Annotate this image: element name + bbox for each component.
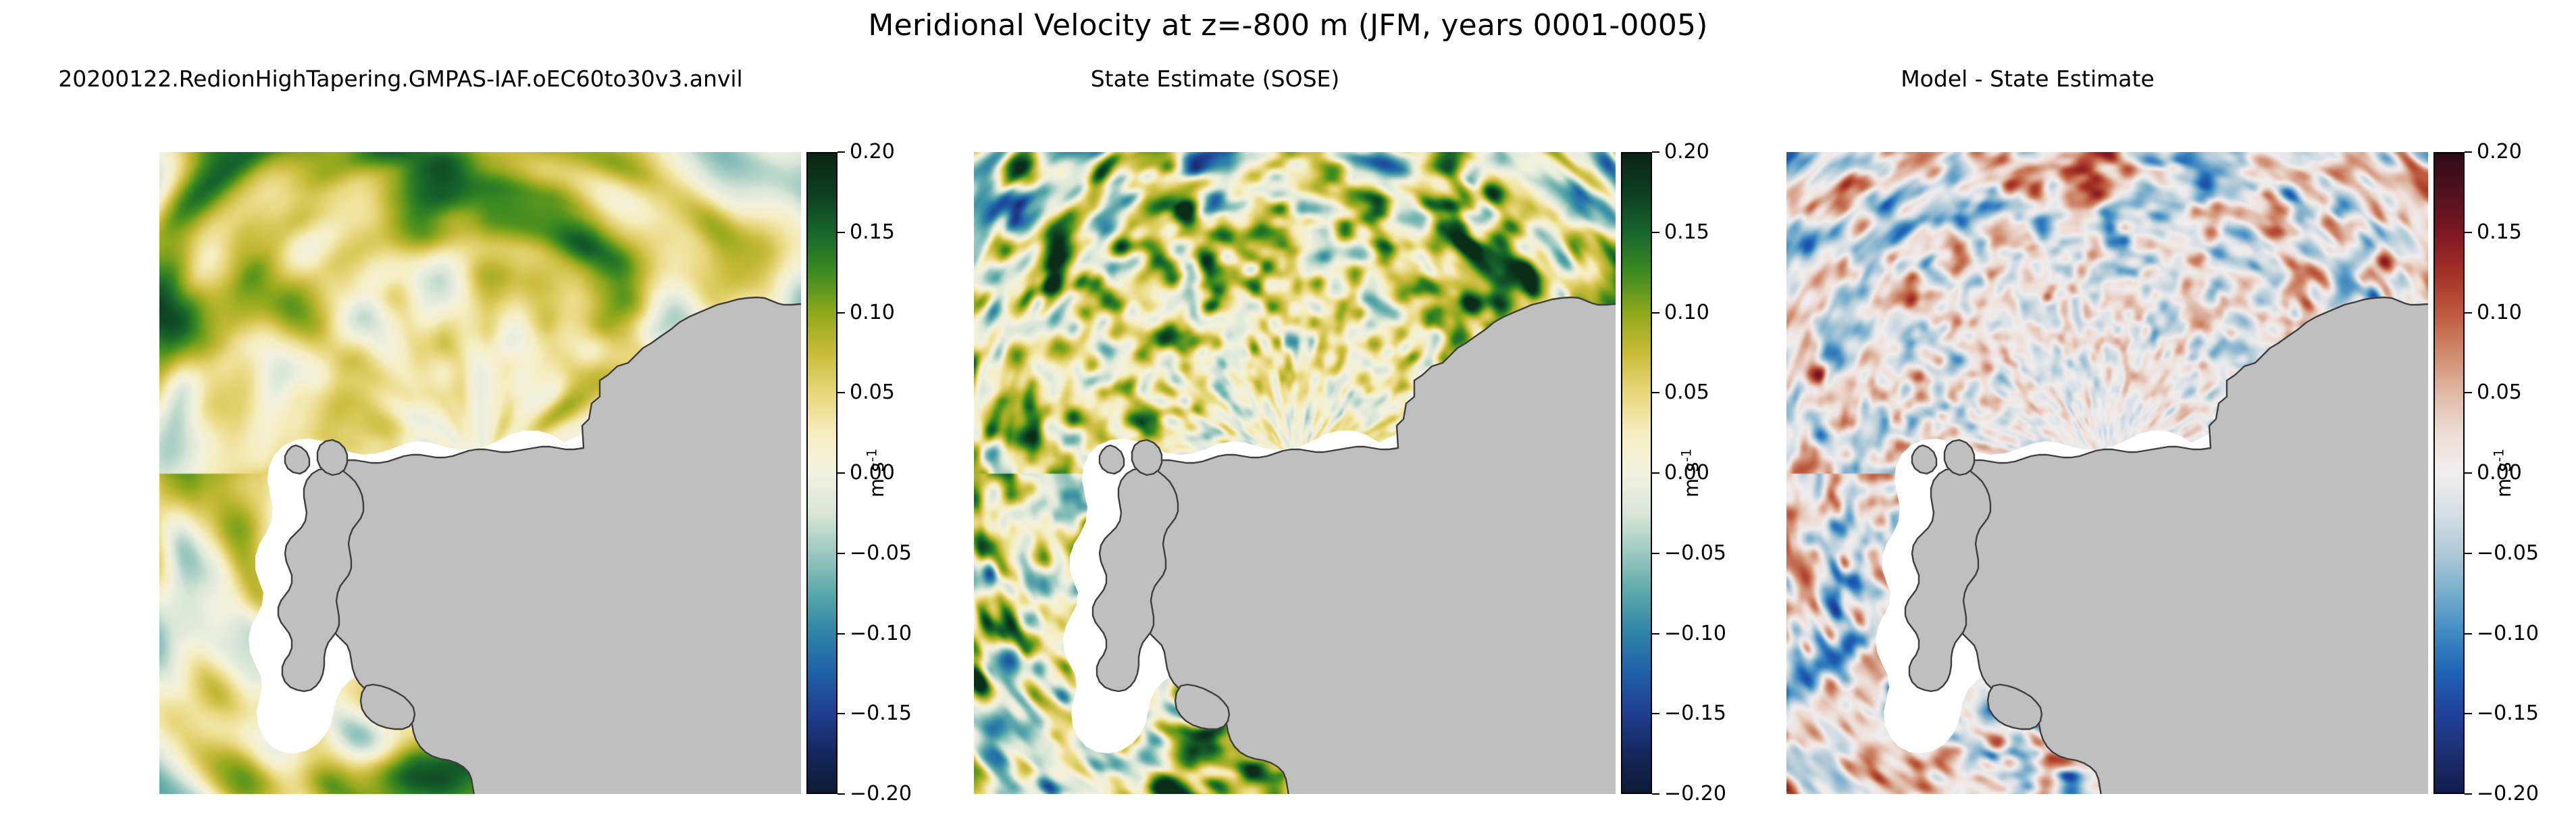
- panel-title-sose: State Estimate (SOSE): [815, 68, 1616, 90]
- colorbar-tick-mark: [2465, 633, 2472, 635]
- panel-difference: Model - State Estimate 0.200.150.100.050…: [1627, 68, 2576, 743]
- panel-title-difference: Model - State Estimate: [1627, 68, 2428, 90]
- colorbar-axis-label-difference: m s-1: [2492, 449, 2515, 497]
- island-west-b: [317, 440, 347, 475]
- colorbar-tick-mark: [2465, 713, 2472, 714]
- island-west-b: [1944, 440, 1974, 475]
- colorbar-tick-mark: [2465, 472, 2472, 474]
- antarctica-landmass-sose: [974, 152, 1616, 794]
- colorbar-tick-label: −0.20: [1664, 780, 1726, 808]
- colorbar-tick-mark: [2465, 151, 2472, 153]
- colorbar-tick-mark: [2465, 392, 2472, 393]
- colorbar-tick-label: 0.10: [2477, 299, 2522, 326]
- colorbar-tick-label: −0.05: [2477, 540, 2539, 567]
- map-axes-difference: [1786, 152, 2428, 794]
- land-group: [249, 297, 801, 794]
- map-axes-sose: [974, 152, 1616, 794]
- island-west-b: [1132, 440, 1162, 475]
- antarctica-landmass-difference: [1786, 152, 2428, 794]
- figure-suptitle: Meridional Velocity at z=-800 m (JFM, ye…: [0, 11, 2576, 41]
- map-axes-model: [159, 152, 801, 794]
- colorbar-tick-mark: [1652, 793, 1659, 795]
- colorbar-tick-mark: [2465, 553, 2472, 554]
- land-group: [1876, 297, 2428, 794]
- figure-canvas: Meridional Velocity at z=-800 m (JFM, ye…: [0, 0, 2576, 819]
- colorbar-tick-mark: [2465, 232, 2472, 233]
- colorbar-gradient-difference: [2433, 152, 2465, 794]
- land-group: [1063, 297, 1616, 794]
- colorbar-tick-label: 0.05: [2477, 379, 2522, 406]
- colorbar-tick-label: −0.20: [2477, 780, 2539, 808]
- colorbar-tick-label: 0.15: [2477, 219, 2522, 246]
- colorbar-difference: 0.200.150.100.050.00−0.05−0.10−0.15−0.20…: [2433, 152, 2548, 794]
- panel-title-model: 20200122.RedionHighTapering.GMPAS-IAF.oE…: [0, 68, 801, 90]
- colorbar-tick-mark: [2465, 312, 2472, 314]
- colorbar-tick-mark: [2465, 793, 2472, 795]
- colorbar-tick-label: −0.15: [2477, 700, 2539, 727]
- colorbar-tick-label: −0.10: [2477, 620, 2539, 647]
- antarctica-landmass-model: [159, 152, 801, 794]
- colorbar-tick-label: −0.20: [850, 780, 912, 808]
- colorbar-tick-label: 0.20: [2477, 139, 2522, 166]
- colorbar-tick-mark: [838, 793, 845, 795]
